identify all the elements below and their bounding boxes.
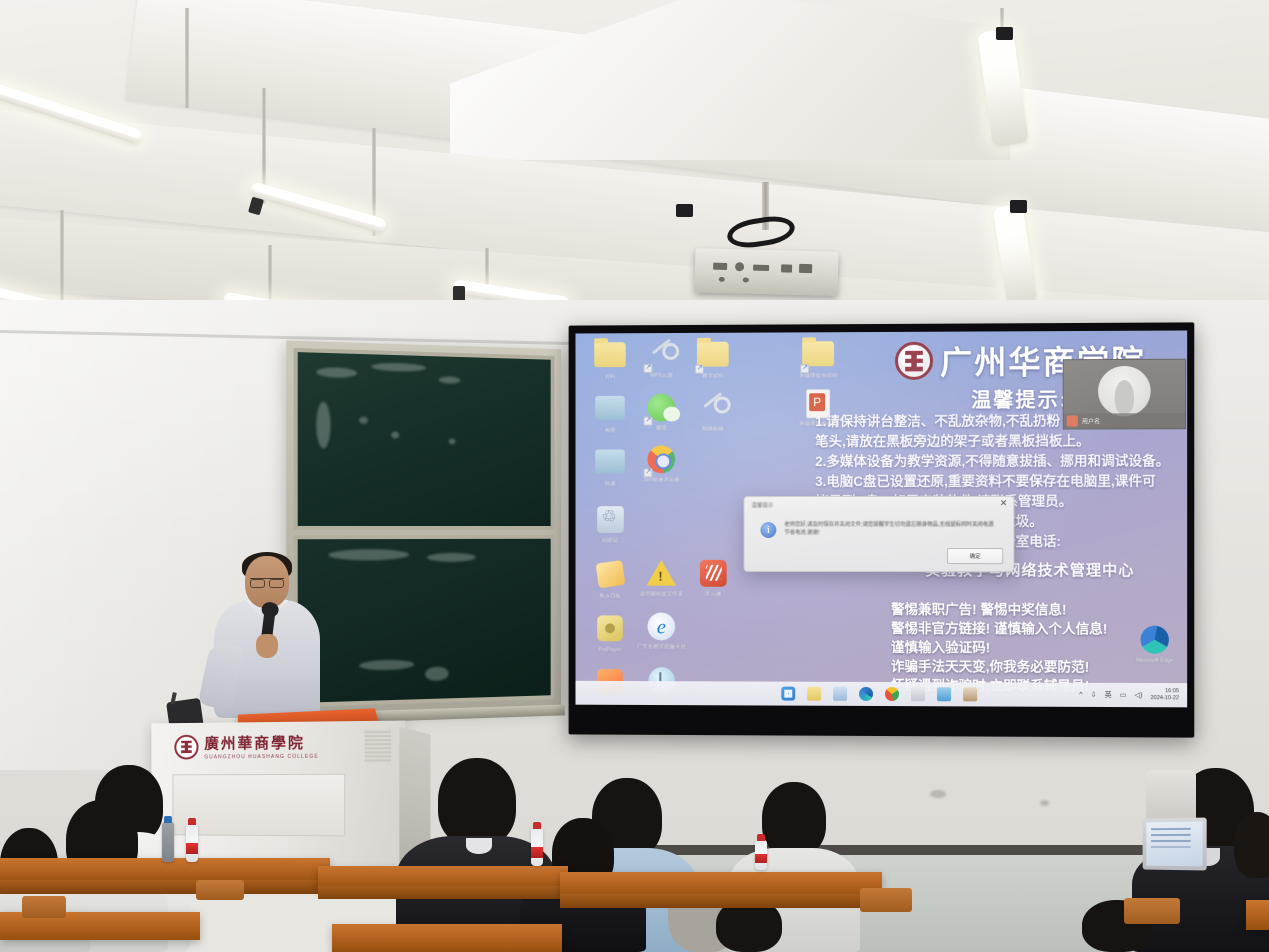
warning-line-2: 警惕非官方链接! 谨慎输入个人信息! (891, 619, 1187, 639)
video-participant-name: 用户名 (1082, 416, 1100, 425)
notice-dialog[interactable]: 温馨提示 ✕ i 老师您好,请及时保存并关闭文件;请您提醒学生切勿遗忘随身物品,… (744, 496, 1015, 572)
taskbar-items (781, 687, 977, 702)
clock-date: 2024-10-22 (1151, 695, 1180, 702)
chair-back-3 (860, 888, 912, 912)
blackboard (286, 340, 561, 714)
desktop-icon-recycle-bin[interactable]: 回收站 (583, 504, 636, 544)
light-rod-1 (185, 8, 189, 108)
desktop-icon-folder-4[interactable]: 多媒体使用说明 (791, 338, 845, 379)
light-rod-4 (60, 210, 64, 305)
tips-line-2: 笔头,请放在黑板旁边的架子或者黑板挡板上。 (815, 431, 1185, 452)
edge-icon[interactable] (859, 687, 873, 701)
camera-icon-1 (996, 27, 1013, 40)
podium-front-panel (172, 774, 345, 837)
ime-icon[interactable]: 英 (1105, 690, 1112, 700)
water-bottle-1 (186, 824, 198, 862)
wall-scuff-2 (1040, 800, 1049, 806)
info-icon: i (760, 522, 776, 538)
school-seal-icon (895, 342, 933, 380)
desktop-icon-ie[interactable]: e 广东省教学质量平台 (635, 612, 688, 651)
desk-row2-right (1246, 900, 1269, 930)
desktop-icon-seewo[interactable]: 希沃白板 (583, 560, 636, 600)
close-icon[interactable]: ✕ (1000, 499, 1008, 508)
podium-name-en: GUANGZHOU HUASHANG COLLEGE (204, 754, 318, 761)
ok-button[interactable]: 确定 (947, 548, 1003, 564)
water-bottle-2 (531, 828, 543, 866)
ceiling-soffit (450, 0, 1010, 160)
water-bottle-steel (162, 822, 174, 862)
ceiling-projector (694, 248, 838, 296)
photos-icon[interactable] (937, 687, 951, 701)
presenter-hand (256, 634, 278, 658)
chair-back-1 (22, 896, 66, 918)
ceiling (0, 0, 1269, 330)
avatar (1098, 366, 1151, 416)
desktop-icon-wechat[interactable]: 微信 (635, 393, 688, 432)
desktop-icon-folder-2[interactable]: 教学软件 (686, 339, 740, 380)
desk-row2-mid (332, 924, 562, 952)
desktop-icon-warning-folder[interactable]: 请勿删除此文件夹 (635, 558, 688, 598)
projection-screen-bezel: 资料 WPS云盘 教学软件 多媒体使用说明 画图 (569, 322, 1195, 737)
chevron-up-icon[interactable]: ^ (1079, 691, 1082, 698)
network-icon[interactable]: ▭ (1120, 691, 1127, 699)
glasses-icon (250, 578, 284, 586)
desktop-icon-wps-cloud[interactable]: WPS云盘 (635, 339, 688, 379)
file-explorer-icon[interactable] (807, 687, 821, 701)
system-tray: ^ ⇩ 英 ▭ ◁) 16:05 2024-10-22 (1079, 688, 1179, 702)
mic-icon[interactable]: ⇩ (1091, 691, 1097, 699)
podium-seal-icon (174, 734, 198, 759)
podium-name-cn: 廣州華商學院 (204, 732, 318, 754)
video-call-overlay[interactable]: 用户名 (1063, 359, 1186, 430)
wall-scuff-1 (930, 790, 946, 798)
desktop-icon-network[interactable]: 网课 (583, 447, 636, 488)
tips-line-4: 3.电脑C盘已设置还原,重要资料不要保存在电脑里,课件可 (815, 472, 1185, 493)
chair-back-4 (1124, 898, 1180, 924)
desk-row1-left-edge (0, 880, 330, 894)
desktop-icon-chrome[interactable]: 360极速浏览器 (635, 444, 688, 483)
tips-line-3: 2.多媒体设备为教学资源,不得随意拔插、挪用和调试设备。 (815, 451, 1185, 472)
chair-back-2 (196, 880, 244, 900)
dialog-title: 温馨提示 (751, 501, 773, 509)
desktop-icon-folder-1[interactable]: 资料 (583, 339, 636, 380)
projected-desktop[interactable]: 资料 WPS云盘 教学软件 多媒体使用说明 画图 (576, 330, 1188, 707)
camera-icon-2 (1010, 200, 1027, 213)
tips-title: 温馨提示: (971, 383, 1068, 412)
desktop-icon-potplayer[interactable]: PotPlayer (583, 613, 636, 653)
warning-line-1: 警惕兼职广告! 警惕中奖信息! (891, 600, 1187, 620)
desk-row1-right-edge (560, 894, 882, 908)
volume-icon[interactable]: ◁) (1135, 691, 1143, 699)
camera-icon-3 (676, 204, 693, 217)
laptop[interactable] (1143, 817, 1207, 870)
taskbar[interactable]: ^ ⇩ 英 ▭ ◁) 16:05 2024-10-22 (576, 681, 1188, 708)
lecture-hall-scene: 资料 WPS云盘 教学软件 多媒体使用说明 画图 (0, 0, 1269, 952)
warning-line-4: 诈骗手法天天变,你我务必要防范! (891, 657, 1187, 677)
dialog-message: 老师您好,请及时保存并关闭文件;请您提醒学生切勿遗忘随身物品,无线鼠标同时关闭电… (784, 521, 998, 537)
desk-row1-mid-edge (318, 886, 568, 899)
podium-speaker-grille (365, 729, 392, 764)
desktop-icon-paint[interactable]: 画图 (583, 393, 636, 434)
desktop-icon-grid: 资料 WPS云盘 教学软件 多媒体使用说明 画图 (583, 339, 751, 340)
laptop-screen (1146, 822, 1202, 867)
water-bottle-3 (755, 840, 767, 870)
video-participant-icon (1067, 415, 1078, 426)
start-button-icon[interactable] (781, 687, 795, 701)
blackboard-panel-bottom (294, 535, 555, 707)
recorder-icon[interactable] (963, 687, 977, 701)
mail-icon[interactable] (833, 687, 847, 701)
blackboard-panel-top (294, 348, 555, 530)
stats-icon[interactable] (911, 687, 925, 701)
chrome-icon[interactable] (885, 687, 899, 701)
clock[interactable]: 16:05 2024-10-22 (1151, 688, 1180, 702)
podium-branding: 廣州華商學院 GUANGZHOU HUASHANG COLLEGE (174, 732, 318, 761)
warning-line-3: 谨慎输入验证码! (891, 638, 1187, 658)
desktop-icon-chaoxing[interactable]: 学习通 (686, 558, 740, 598)
desktop-icon-video-tool[interactable]: 视频剪辑 (686, 392, 740, 432)
video-overlay-statusbar: 用户名 (1064, 413, 1185, 428)
